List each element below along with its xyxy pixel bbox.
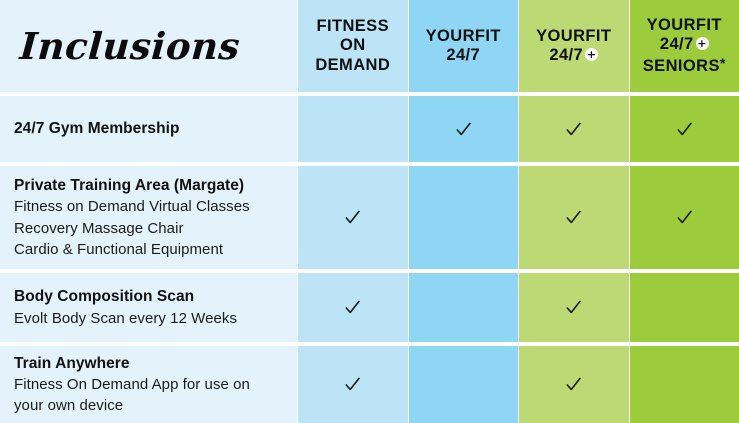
- feature-label-cell: 24/7 Gym Membership: [0, 96, 297, 162]
- table-row: 24/7 Gym Membership: [0, 96, 739, 162]
- check-icon: [343, 375, 362, 394]
- check-icon: [564, 208, 583, 227]
- plus-badge-icon: +: [585, 48, 598, 61]
- table-row: Train Anywhere Fitness On Demand App for…: [0, 346, 739, 423]
- cell-yourfit-247: [409, 166, 519, 269]
- column-header-yourfit-247-plus-seniors[interactable]: YOURFIT 24/7+ SENIORS*: [630, 0, 739, 92]
- check-icon: [454, 120, 473, 139]
- check-icon: [343, 208, 362, 227]
- cell-yourfit-247-plus: [519, 166, 629, 269]
- column-header-line2: 24/7: [446, 46, 480, 64]
- table-row: Body Composition Scan Evolt Body Scan ev…: [0, 273, 739, 342]
- cell-yourfit-247: [409, 346, 519, 423]
- column-header-fitness-on-demand[interactable]: FITNESS ON DEMAND: [298, 0, 408, 92]
- table-row: Private Training Area (Margate) Fitness …: [0, 166, 739, 269]
- cell-yourfit-247-plus-seniors: [630, 273, 739, 342]
- check-icon: [675, 120, 694, 139]
- column-header-line1: FITNESS: [317, 17, 389, 35]
- column-header-line3: SENIORS: [643, 57, 720, 75]
- column-header-yourfit-247-plus[interactable]: YOURFIT 24/7+: [519, 0, 629, 92]
- column-header-line1: YOURFIT: [426, 27, 501, 45]
- cell-yourfit-247-plus: [519, 273, 629, 342]
- feature-subline: Recovery Massage Chair: [14, 218, 283, 239]
- cell-yourfit-247-plus-seniors: [630, 346, 739, 423]
- feature-title: 24/7 Gym Membership: [14, 118, 283, 139]
- check-icon: [564, 298, 583, 317]
- column-header-line2: 24/7: [549, 46, 583, 64]
- feature-title: Train Anywhere: [14, 353, 283, 374]
- cell-yourfit-247-plus-seniors: [630, 96, 739, 162]
- column-header-label: FITNESS ON DEMAND: [298, 17, 408, 74]
- page-title: Inclusions: [13, 28, 285, 65]
- cell-yourfit-247-plus: [519, 96, 629, 162]
- feature-subline: Evolt Body Scan every 12 Weeks: [14, 308, 283, 329]
- column-header-label: YOURFIT 24/7+: [532, 27, 615, 65]
- cell-yourfit-247-plus-seniors: [630, 166, 739, 269]
- column-header-line2: ON DEMAND: [315, 36, 390, 73]
- feature-title-main: Private Training Area: [14, 177, 170, 194]
- feature-subline: Fitness On Demand App for use on: [14, 374, 283, 395]
- inclusions-comparison-table: Inclusions FITNESS ON DEMAND YOURFIT 24/…: [0, 0, 739, 419]
- plus-badge-icon: +: [696, 37, 709, 50]
- asterisk-marker: *: [720, 55, 726, 71]
- cell-yourfit-247: [409, 96, 519, 162]
- check-icon: [675, 208, 694, 227]
- table-title-cell: Inclusions: [0, 0, 297, 92]
- cell-yourfit-247: [409, 273, 519, 342]
- table-header-row: Inclusions FITNESS ON DEMAND YOURFIT 24/…: [0, 0, 739, 92]
- column-header-label: YOURFIT 24/7: [422, 27, 505, 65]
- cell-fitness-on-demand: [298, 166, 408, 269]
- cell-fitness-on-demand: [298, 346, 408, 423]
- column-header-line1: YOURFIT: [536, 27, 611, 45]
- feature-label-cell: Private Training Area (Margate) Fitness …: [0, 166, 297, 269]
- feature-subline: your own device: [14, 395, 283, 416]
- column-header-line2: 24/7: [660, 35, 694, 53]
- cell-yourfit-247-plus: [519, 346, 629, 423]
- column-header-line1: YOURFIT: [647, 16, 722, 34]
- column-header-label: YOURFIT 24/7+ SENIORS*: [639, 16, 730, 75]
- cell-fitness-on-demand: [298, 273, 408, 342]
- feature-title: Body Composition Scan: [14, 286, 283, 307]
- check-icon: [564, 120, 583, 139]
- feature-label-cell: Train Anywhere Fitness On Demand App for…: [0, 346, 297, 423]
- column-header-yourfit-247[interactable]: YOURFIT 24/7: [409, 0, 519, 92]
- feature-label-cell: Body Composition Scan Evolt Body Scan ev…: [0, 273, 297, 342]
- check-icon: [343, 298, 362, 317]
- check-icon: [564, 375, 583, 394]
- feature-subline: Fitness on Demand Virtual Classes: [14, 196, 283, 217]
- feature-title-suffix: (Margate): [174, 177, 244, 194]
- cell-fitness-on-demand: [298, 96, 408, 162]
- feature-subline: Cardio & Functional Equipment: [14, 239, 283, 260]
- feature-title: Private Training Area (Margate): [14, 175, 283, 196]
